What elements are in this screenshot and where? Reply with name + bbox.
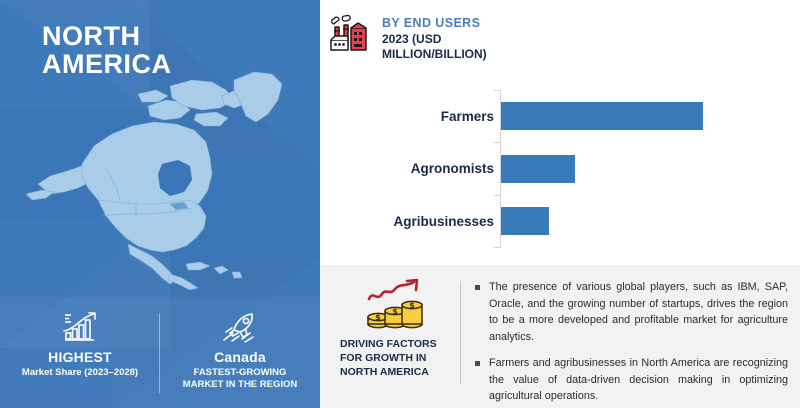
region-title-line2: AMERICA [42, 50, 172, 78]
svg-text:$: $ [375, 313, 381, 322]
bar-rows: Farmers Agronomists Agribusinesses [330, 90, 795, 248]
rocket-icon [220, 309, 260, 345]
stat-fastest-growing-country: Canada FASTEST-GROWING MARKET IN THE REG… [160, 297, 320, 408]
bar-category-label: Agronomists [319, 161, 494, 176]
list-item: Farmers and agribusinesses in North Amer… [475, 355, 788, 405]
bar-agribusinesses [501, 207, 549, 235]
svg-text:$: $ [409, 301, 415, 310]
caption-line1: DRIVING FACTORS [340, 337, 454, 351]
stat-subtext: FASTEST-GROWING MARKET IN THE REGION [175, 367, 305, 391]
bar-farmers [501, 102, 703, 130]
bar-row: Farmers [330, 90, 795, 143]
list-item: The presence of various global players, … [475, 279, 788, 346]
driving-factors-caption-block: $$$ DRIVING FACTORS FOR GROWTH IN NORTH … [336, 277, 454, 398]
stat-headline: HIGHEST [48, 349, 112, 365]
stats-divider [159, 313, 160, 393]
driving-factors-caption: DRIVING FACTORS FOR GROWTH IN NORTH AMER… [336, 337, 454, 380]
north-america-map-icon [20, 68, 310, 290]
region-title-line1: NORTH [42, 22, 172, 50]
chart-header: BY END USERS 2023 (USD MILLION/BILLION) [326, 12, 576, 62]
infographic-root: NORTH AMERICA [0, 0, 800, 408]
bar-agronomists [501, 155, 575, 183]
bar-row: Agribusinesses [330, 195, 795, 248]
chart-title: BY END USERS [382, 16, 522, 31]
region-panel: NORTH AMERICA [0, 0, 320, 408]
driving-factors-bullet-list: The presence of various global players, … [475, 277, 788, 398]
caption-line2: FOR GROWTH IN [340, 351, 454, 365]
drivers-divider [460, 281, 461, 384]
bullet-text: Farmers and agribusinesses in North Amer… [489, 355, 788, 405]
bullet-text: The presence of various global players, … [489, 279, 788, 346]
stat-highest-market-share: HIGHEST Market Share (2023–2028) [0, 297, 160, 408]
bar-chart: Farmers Agronomists Agribusinesses [330, 80, 795, 258]
region-title: NORTH AMERICA [42, 22, 172, 79]
region-stats-band: HIGHEST Market Share (2023–2028) [0, 297, 320, 408]
factory-icon [326, 12, 372, 58]
coins-growth-arrow-icon: $$$ [364, 277, 426, 331]
svg-text:$: $ [392, 307, 398, 316]
chart-heading: BY END USERS 2023 (USD MILLION/BILLION) [382, 12, 522, 62]
bar-row: Agronomists [330, 143, 795, 196]
bar-category-label: Farmers [319, 109, 494, 124]
bullet-square-icon [475, 361, 480, 366]
driving-factors-panel: $$$ DRIVING FACTORS FOR GROWTH IN NORTH … [320, 265, 800, 408]
growth-bar-chart-arrow-icon [60, 309, 100, 345]
bullet-square-icon [475, 285, 480, 290]
chart-subtitle: 2023 (USD MILLION/BILLION) [382, 32, 522, 62]
caption-line3: NORTH AMERICA [340, 365, 454, 379]
bar-category-label: Agribusinesses [319, 214, 494, 229]
stat-headline: Canada [214, 349, 266, 365]
stat-subtext: Market Share (2023–2028) [22, 367, 138, 379]
